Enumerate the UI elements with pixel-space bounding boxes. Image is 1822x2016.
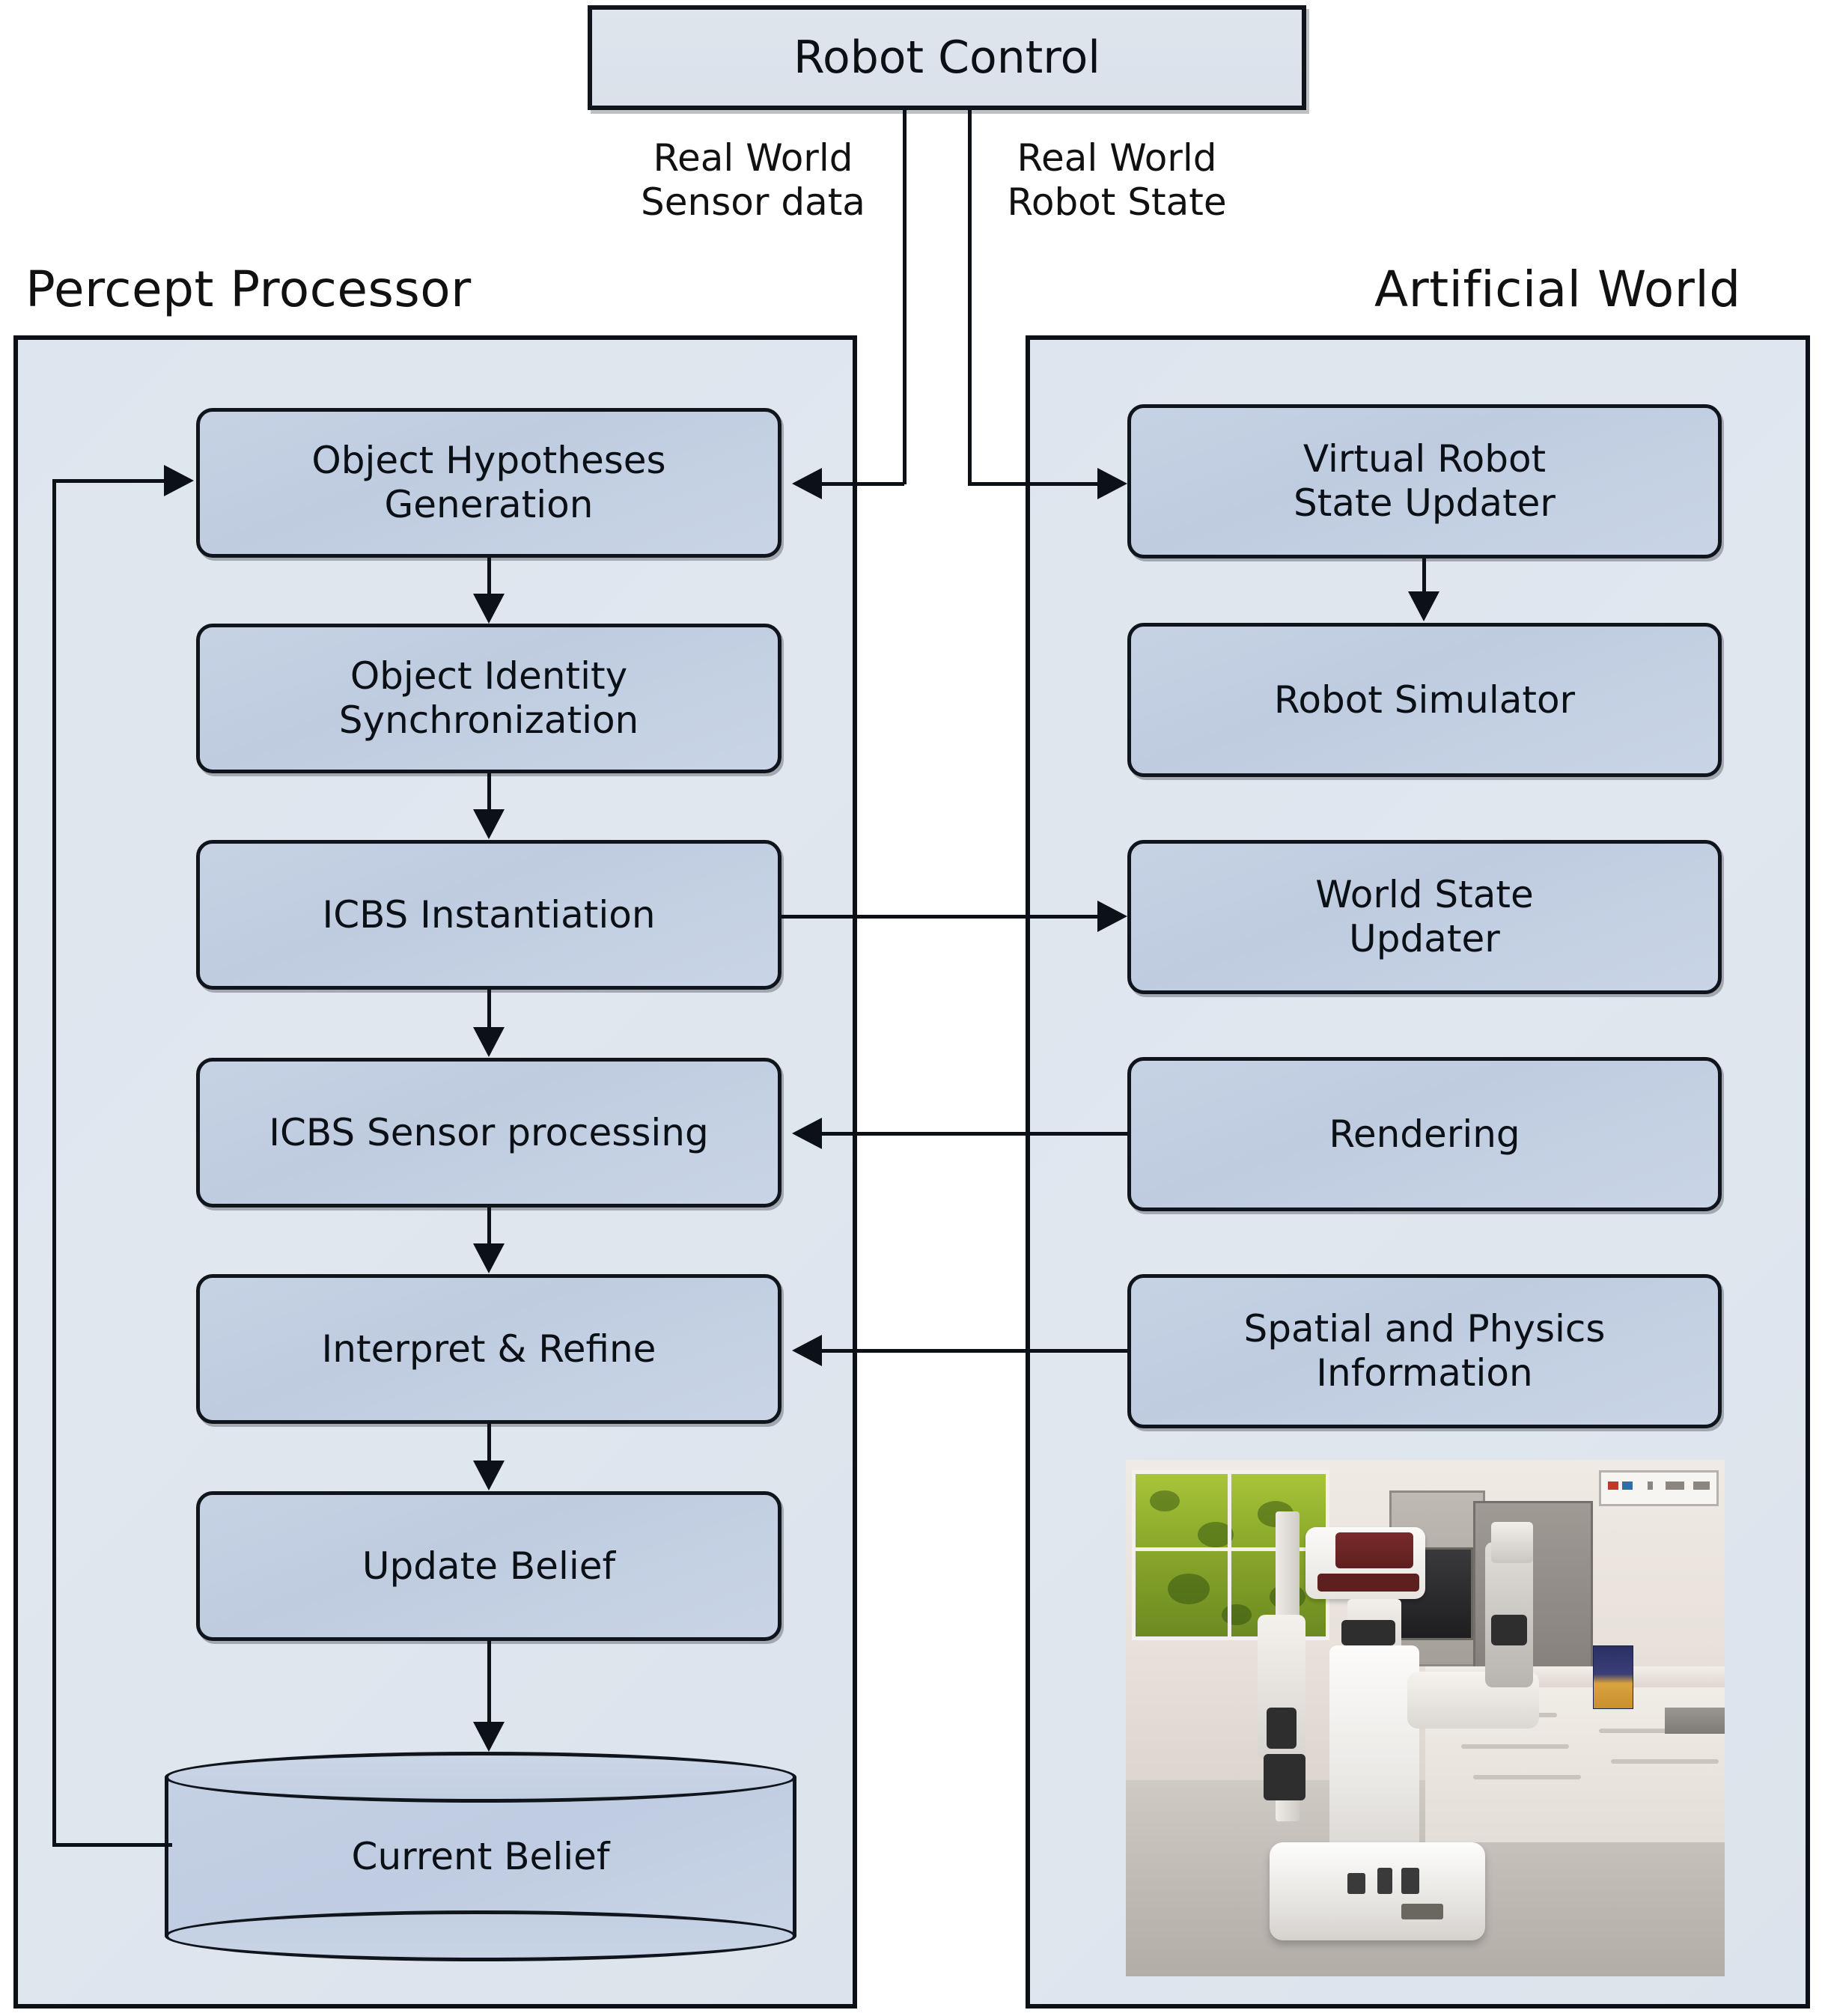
edge-sensor-data-horizontal — [822, 482, 904, 486]
edge-ohg-to-ois — [487, 558, 491, 595]
edge-icbsi-to-wsu-arrowhead — [1097, 901, 1127, 932]
edge-spi-to-ir-arrowhead — [792, 1335, 822, 1366]
artificial-world-title: Artificial World — [1374, 261, 1741, 318]
node-interpret-and-refine[interactable]: Interpret & Refine — [196, 1274, 781, 1424]
node-spatial-and-physics-information[interactable]: Spatial and Physics Information — [1127, 1274, 1722, 1428]
node-label: Interpret & Refine — [322, 1327, 656, 1371]
node-world-state-updater[interactable]: World State Updater — [1127, 840, 1722, 994]
edge-rendering-to-icbssp-arrowhead — [792, 1118, 822, 1149]
node-label: World State Updater — [1315, 873, 1534, 961]
node-label: ICBS Sensor processing — [269, 1111, 708, 1155]
edge-ub-to-current-belief — [487, 1641, 491, 1723]
edge-vrsu-to-rs — [1422, 558, 1426, 593]
node-object-hypotheses-generation[interactable]: Object Hypotheses Generation — [196, 408, 781, 558]
edge-feedback-top — [52, 479, 166, 483]
node-icbs-instantiation[interactable]: ICBS Instantiation — [196, 840, 781, 990]
node-update-belief[interactable]: Update Belief — [196, 1491, 781, 1641]
node-label: Virtual Robot State Updater — [1294, 437, 1556, 526]
edge-robot-state-arrowhead — [1097, 468, 1127, 499]
edge-sensor-data-arrowhead — [792, 468, 822, 499]
node-label: ICBS Instantiation — [322, 893, 655, 937]
node-robot-simulator[interactable]: Robot Simulator — [1127, 623, 1722, 777]
simulated-kitchen-robot-photo — [1126, 1460, 1725, 1976]
photo-frame — [1126, 1460, 1725, 1976]
node-label: Spatial and Physics Information — [1244, 1307, 1606, 1395]
node-label: Robot Simulator — [1274, 678, 1575, 722]
node-robot-control[interactable]: Robot Control — [588, 5, 1306, 110]
edge-label-robot-state: Real World Robot State — [982, 136, 1252, 225]
percept-processor-title: Percept Processor — [25, 261, 472, 318]
edge-robot-state-horizontal — [968, 482, 1099, 486]
edge-icbssp-to-ir-arrowhead — [473, 1243, 505, 1273]
edge-ir-to-ub-arrowhead — [473, 1461, 505, 1490]
edge-feedback-vertical — [52, 479, 56, 1847]
edge-rendering-to-icbssp — [822, 1132, 1127, 1136]
edge-feedback-bottom — [52, 1843, 172, 1847]
edge-ohg-to-ois-arrowhead — [473, 594, 505, 624]
edge-ir-to-ub — [487, 1424, 491, 1463]
diagram-canvas: Robot Control Percept Processor Artifici… — [0, 0, 1822, 2016]
edge-sensor-data-vertical — [903, 110, 907, 484]
edge-vrsu-to-rs-arrowhead — [1408, 591, 1439, 621]
edge-icbsi-to-wsu — [781, 915, 1100, 919]
edge-feedback-arrowhead — [164, 465, 194, 496]
datastore-current-belief[interactable]: Current Belief — [165, 1752, 796, 1961]
edge-ois-to-icbsi-arrowhead — [473, 809, 505, 839]
node-rendering[interactable]: Rendering — [1127, 1057, 1722, 1211]
edge-robot-state-vertical — [968, 110, 972, 484]
edge-ub-to-current-belief-arrowhead — [473, 1722, 505, 1752]
datastore-label: Current Belief — [165, 1752, 796, 1961]
edge-ois-to-icbsi — [487, 773, 491, 811]
node-label: Robot Control — [793, 31, 1100, 85]
node-label: Rendering — [1329, 1112, 1520, 1157]
edge-icbssp-to-ir — [487, 1208, 491, 1245]
node-icbs-sensor-processing[interactable]: ICBS Sensor processing — [196, 1058, 781, 1208]
edge-spi-to-ir — [822, 1349, 1127, 1353]
node-label: Update Belief — [362, 1544, 615, 1589]
node-label: Object Identity Synchronization — [339, 654, 639, 743]
node-label: Object Hypotheses Generation — [311, 439, 665, 527]
node-object-identity-synchronization[interactable]: Object Identity Synchronization — [196, 624, 781, 773]
edge-icbsi-to-icbssp — [487, 990, 491, 1029]
edge-icbsi-to-icbssp-arrowhead — [473, 1027, 505, 1057]
edge-label-sensor-data: Real World Sensor data — [618, 136, 888, 225]
node-virtual-robot-state-updater[interactable]: Virtual Robot State Updater — [1127, 404, 1722, 558]
